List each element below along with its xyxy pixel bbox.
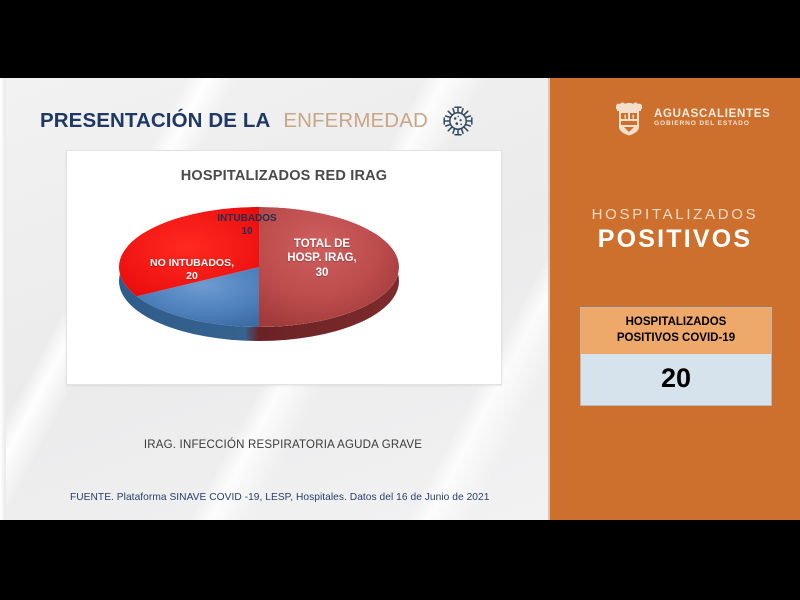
right-orange-panel: AGUASCALIENTES GOBIERNO DEL ESTADO HOSPI… bbox=[548, 78, 800, 520]
chart-title: HOSPITALIZADOS RED IRAG bbox=[67, 168, 501, 184]
panel-heading-main: POSITIVOS bbox=[550, 225, 800, 254]
pie-label-intub-value: 10 bbox=[187, 226, 307, 239]
stat-box-hospitalizados-positivos: HOSPITALIZADOS POSITIVOS COVID-19 20 bbox=[580, 307, 772, 406]
slide-canvas: PRESENTACIÓN DE LA ENFERMEDAD bbox=[0, 78, 800, 520]
virus-icon bbox=[441, 104, 475, 138]
logo-subtitle: GOBIERNO DEL ESTADO bbox=[654, 121, 771, 128]
stat-box-header-line1: HOSPITALIZADOS bbox=[585, 315, 767, 331]
page-title-light: ENFERMEDAD bbox=[283, 109, 428, 133]
source-note: FUENTE. Plataforma SINAVE COVID -19, LES… bbox=[70, 492, 489, 503]
coat-of-arms-icon bbox=[612, 98, 646, 138]
pie-chart: TOTAL DE HOSP. IRAG, 30 NO INTUBADOS, 20… bbox=[119, 199, 449, 374]
logo-name: AGUASCALIENTES bbox=[654, 108, 771, 120]
pie-label-total-value: 30 bbox=[262, 266, 382, 280]
pie-slice-label-no-intubados: NO INTUBADOS, 20 bbox=[127, 257, 257, 283]
pie-label-intub-line1: INTUBADOS bbox=[187, 213, 307, 226]
pie-label-total-line2: HOSP. IRAG, bbox=[262, 251, 382, 265]
logo-text: AGUASCALIENTES GOBIERNO DEL ESTADO bbox=[654, 108, 771, 128]
pie-slice-label-total: TOTAL DE HOSP. IRAG, 30 bbox=[262, 237, 382, 280]
panel-heading-top: HOSPITALIZADOS bbox=[550, 206, 800, 223]
screenshot-stage: PRESENTACIÓN DE LA ENFERMEDAD bbox=[0, 0, 800, 600]
pie-label-total-line1: TOTAL DE bbox=[262, 237, 382, 251]
stat-box-header: HOSPITALIZADOS POSITIVOS COVID-19 bbox=[581, 308, 771, 354]
irag-definition-note: IRAG. INFECCIÓN RESPIRATORIA AGUDA GRAVE bbox=[66, 439, 500, 451]
slide-header: PRESENTACIÓN DE LA ENFERMEDAD bbox=[40, 104, 475, 138]
stat-box-header-line2: POSITIVOS COVID-19 bbox=[585, 331, 767, 347]
page-title-strong: PRESENTACIÓN DE LA bbox=[40, 109, 270, 133]
pie-label-nointub-line1: NO INTUBADOS, bbox=[127, 257, 257, 270]
panel-heading: HOSPITALIZADOS POSITIVOS bbox=[550, 206, 800, 254]
pie-slice-label-intubados: INTUBADOS 10 bbox=[187, 213, 307, 238]
pie-label-nointub-value: 20 bbox=[127, 270, 257, 283]
government-logo: AGUASCALIENTES GOBIERNO DEL ESTADO bbox=[612, 98, 771, 138]
chart-card: HOSPITALIZADOS RED IRAG bbox=[66, 150, 502, 385]
stat-box-value: 20 bbox=[581, 354, 771, 405]
